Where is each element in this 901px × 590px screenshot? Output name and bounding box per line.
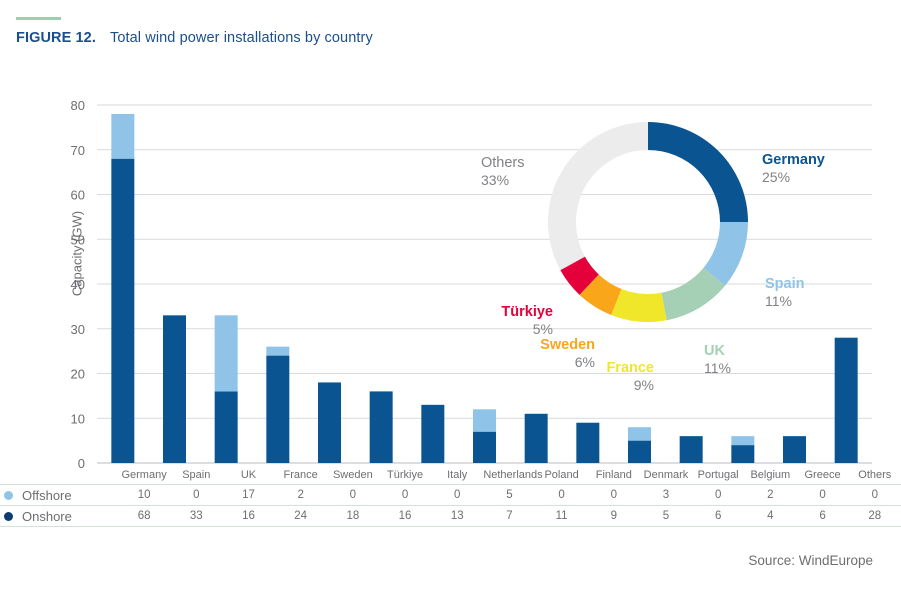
table-cell: 24	[275, 506, 327, 527]
donut-slice[interactable]	[648, 122, 748, 222]
table-cell: 17	[222, 485, 274, 506]
table-cell: 0	[796, 485, 848, 506]
y-axis-tick-label: 80	[71, 98, 85, 113]
table-column-header: Others	[849, 466, 901, 485]
donut-label-name: Spain	[765, 276, 804, 292]
table-cell: 9	[588, 506, 640, 527]
table-column-header: Germany	[118, 466, 170, 485]
table-cell: 28	[849, 506, 901, 527]
table-cell: 2	[275, 485, 327, 506]
table-cell: 0	[170, 485, 222, 506]
table-column-header: Portugal	[692, 466, 744, 485]
table-row: Offshore10017200050030200	[0, 485, 901, 506]
bar-segment-onshore[interactable]	[215, 391, 238, 463]
table-cell: 5	[640, 506, 692, 527]
y-axis-tick-label: 20	[71, 367, 85, 382]
chart-canvas: 01020304050607080GermanySpainUKFranceSwe…	[0, 0, 901, 470]
table-column-header: Poland	[536, 466, 588, 485]
table-header-row: GermanySpainUKFranceSwedenTürkiyeItalyNe…	[0, 466, 901, 485]
table-column-header: Greece	[796, 466, 848, 485]
legend-dot-icon	[4, 512, 13, 521]
table-cell: 10	[118, 485, 170, 506]
table-column-header: Spain	[170, 466, 222, 485]
donut-label-value: 6%	[575, 354, 595, 370]
bar-segment-onshore[interactable]	[835, 338, 858, 463]
y-axis-tick-label: 70	[71, 143, 85, 158]
donut-slice[interactable]	[548, 122, 648, 270]
bar-segment-onshore[interactable]	[318, 382, 341, 463]
table-column-header: France	[275, 466, 327, 485]
donut-label-name: Germany	[762, 152, 825, 168]
table-body: Offshore10017200050030200Onshore68331624…	[0, 485, 901, 527]
table-row: Onshore683316241816137119564628	[0, 506, 901, 527]
donut-label-name: UK	[704, 343, 725, 359]
donut-label-name: Sweden	[540, 337, 595, 353]
table-cell: 4	[744, 506, 796, 527]
table-cell: 0	[431, 485, 483, 506]
table-cell: 13	[431, 506, 483, 527]
bar-segment-offshore[interactable]	[111, 114, 134, 159]
bar-segment-onshore[interactable]	[421, 405, 444, 463]
table-cell: 3	[640, 485, 692, 506]
table-corner-cell	[0, 466, 118, 485]
bar-segment-onshore[interactable]	[266, 356, 289, 463]
bar-segment-offshore[interactable]	[473, 409, 496, 431]
table-row-label: Onshore	[0, 506, 118, 527]
table-cell: 18	[327, 506, 379, 527]
table-column-header: Sweden	[327, 466, 379, 485]
table-column-header: Finland	[588, 466, 640, 485]
table-column-header: Netherlands	[483, 466, 535, 485]
table-column-header: Belgium	[744, 466, 796, 485]
bar-segment-onshore[interactable]	[163, 315, 186, 463]
table-cell: 16	[222, 506, 274, 527]
donut-label-name: Türkiye	[501, 304, 553, 320]
table-cell: 0	[379, 485, 431, 506]
table-cell: 0	[536, 485, 588, 506]
table-row-label: Offshore	[0, 485, 118, 506]
bar-segment-onshore[interactable]	[680, 436, 703, 463]
table-column-header: Italy	[431, 466, 483, 485]
bar-segment-offshore[interactable]	[266, 347, 289, 356]
table-cell: 11	[536, 506, 588, 527]
y-axis-tick-label: 60	[71, 188, 85, 203]
table-cell: 7	[483, 506, 535, 527]
donut-label-value: 5%	[533, 321, 553, 337]
donut-label-value: 9%	[634, 377, 654, 393]
data-table: GermanySpainUKFranceSwedenTürkiyeItalyNe…	[0, 466, 901, 527]
donut-label-name: Others	[481, 155, 525, 171]
y-axis-tick-label: 40	[71, 277, 85, 292]
bar-segment-onshore[interactable]	[111, 159, 134, 463]
table-cell: 33	[170, 506, 222, 527]
table-column-header: Denmark	[640, 466, 692, 485]
bar-segment-onshore[interactable]	[525, 414, 548, 463]
donut-label-value: 11%	[765, 293, 792, 309]
table-cell: 2	[744, 485, 796, 506]
bar-segment-offshore[interactable]	[731, 436, 754, 445]
bar-segment-offshore[interactable]	[215, 315, 238, 391]
table-cell: 68	[118, 506, 170, 527]
bar-segment-onshore[interactable]	[731, 445, 754, 463]
bar-segment-onshore[interactable]	[576, 423, 599, 463]
table-cell: 0	[849, 485, 901, 506]
table-cell: 6	[796, 506, 848, 527]
bar-segment-onshore[interactable]	[628, 441, 651, 463]
table-column-header: UK	[222, 466, 274, 485]
table-cell: 0	[692, 485, 744, 506]
y-axis-tick-label: 50	[71, 232, 85, 247]
donut-label-value: 11%	[704, 360, 731, 376]
table-column-header: Türkiye	[379, 466, 431, 485]
table-cell: 16	[379, 506, 431, 527]
donut-label-value: 25%	[762, 169, 790, 185]
legend-dot-icon	[4, 491, 13, 500]
donut-label-value: 33%	[481, 172, 509, 188]
bar-segment-onshore[interactable]	[783, 436, 806, 463]
y-axis-tick-label: 30	[71, 322, 85, 337]
table-cell: 0	[327, 485, 379, 506]
y-axis-tick-label: 10	[71, 411, 85, 426]
donut-label-name: France	[606, 360, 654, 376]
bar-segment-onshore[interactable]	[473, 432, 496, 463]
table-cell: 5	[483, 485, 535, 506]
bar-segment-onshore[interactable]	[370, 391, 393, 463]
bar-segment-offshore[interactable]	[628, 427, 651, 440]
table-cell: 0	[588, 485, 640, 506]
table-cell: 6	[692, 506, 744, 527]
source-note: Source: WindEurope	[748, 553, 873, 568]
